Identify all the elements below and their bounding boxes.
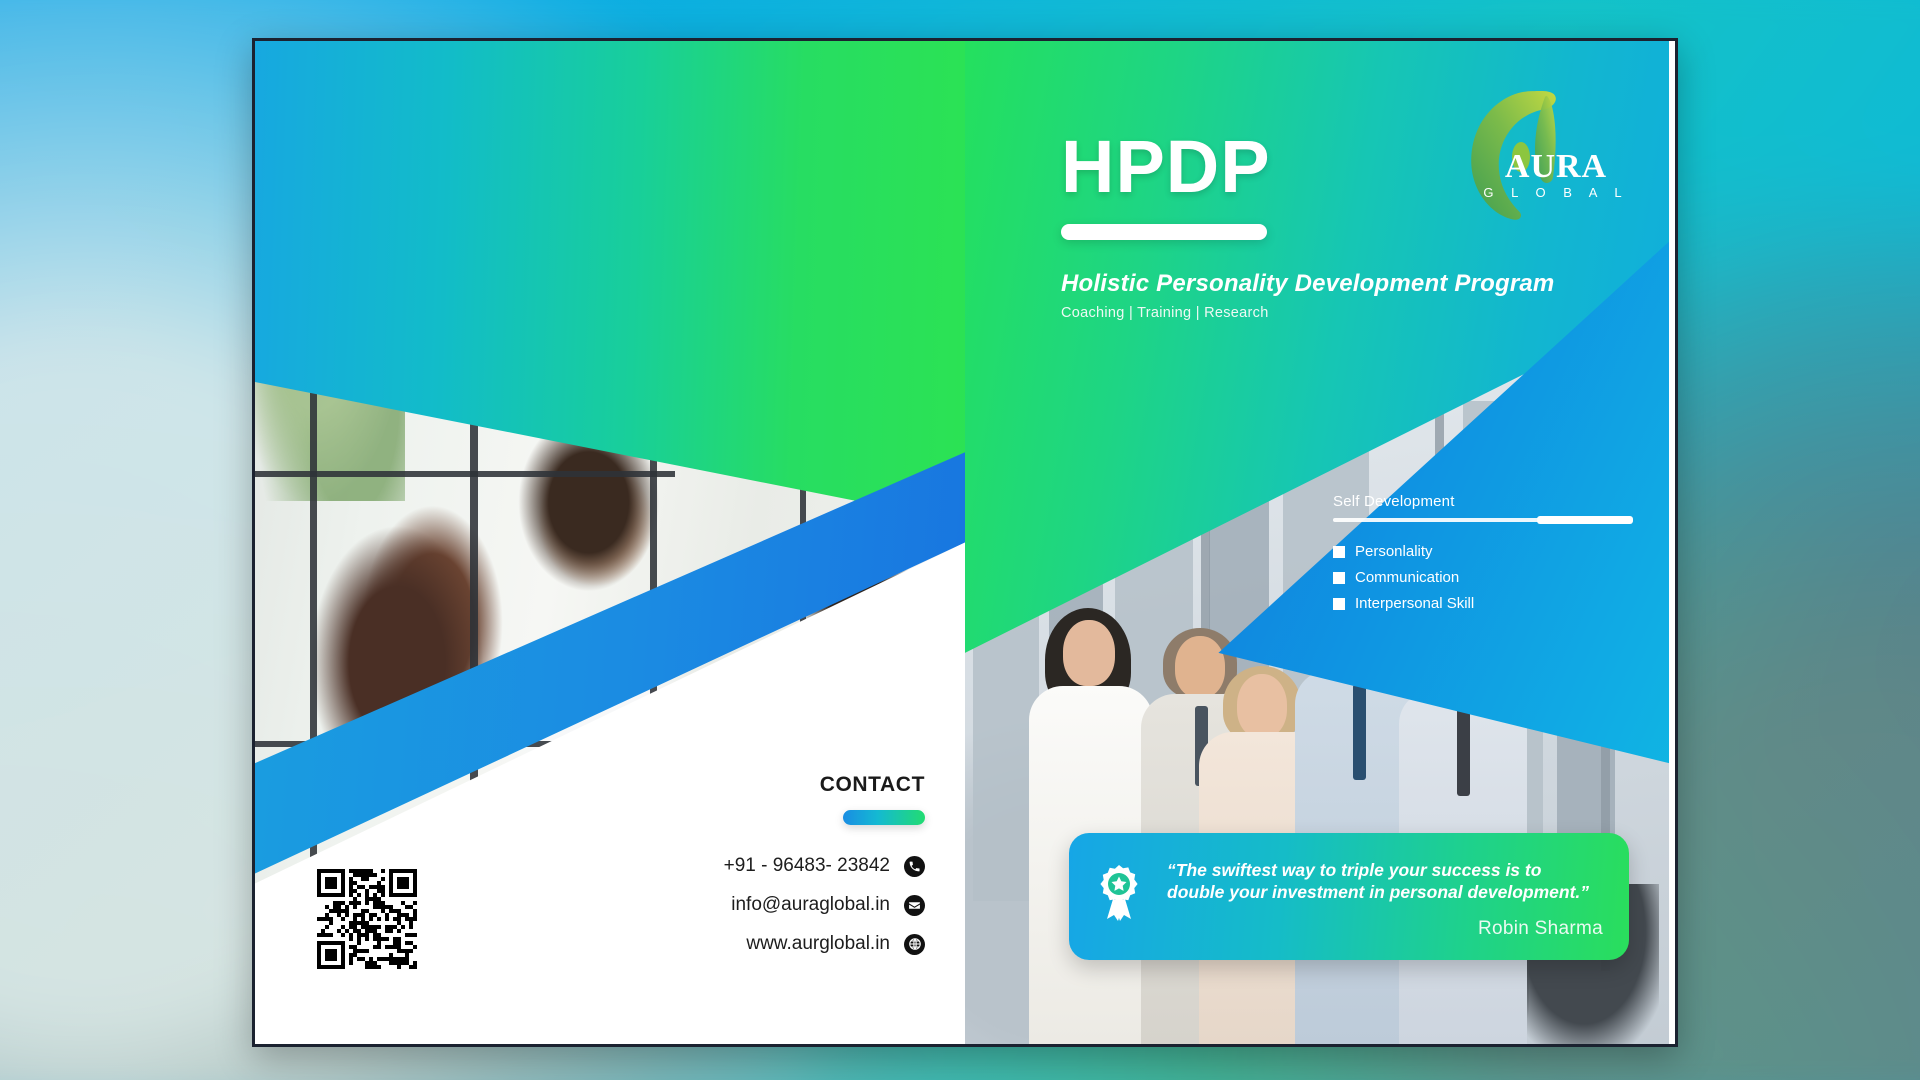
contact-row-email[interactable]: info@auraglobal.in xyxy=(724,894,925,916)
award-rosette-icon xyxy=(1095,859,1147,941)
person-head xyxy=(1175,636,1225,698)
quote-author: Robin Sharma xyxy=(1167,918,1603,940)
globe-icon xyxy=(904,934,925,955)
contact-block: CONTACT +91 - 96483- 23842 info@auraglob… xyxy=(724,773,925,972)
logo-name: AURA xyxy=(1481,150,1631,184)
person-tie xyxy=(1353,684,1366,780)
brochure-sheet: CONTACT +91 - 96483- 23842 info@auraglob… xyxy=(252,38,1678,1047)
contact-email-value: info@auraglobal.in xyxy=(731,894,890,916)
self-development-block: Self Development Personlality Communicat… xyxy=(1333,493,1633,621)
contact-heading: CONTACT xyxy=(724,773,925,797)
checklist-label: Interpersonal Skill xyxy=(1355,595,1474,612)
contact-phone-value: +91 - 96483- 23842 xyxy=(724,855,890,877)
brochure-left-page: CONTACT +91 - 96483- 23842 info@auraglob… xyxy=(255,41,965,1044)
checklist-label: Communication xyxy=(1355,569,1459,586)
brand-logo[interactable]: AURA G L O B A L xyxy=(1457,83,1625,223)
qr-code[interactable] xyxy=(317,869,417,969)
self-development-heading: Self Development xyxy=(1333,493,1633,510)
checklist-item-communication[interactable]: Communication xyxy=(1333,569,1633,586)
checkbox-icon[interactable] xyxy=(1333,598,1345,610)
window-mullion xyxy=(255,471,675,477)
checklist-label: Personlality xyxy=(1355,543,1433,560)
quote-text: “The swiftest way to triple your success… xyxy=(1167,859,1603,905)
logo-subtitle: G L O B A L xyxy=(1481,186,1631,199)
quote-body: “The swiftest way to triple your success… xyxy=(1167,859,1603,941)
screenshot-stage: CONTACT +91 - 96483- 23842 info@auraglob… xyxy=(0,0,1920,1080)
page-subtitle: Holistic Personality Development Program xyxy=(1061,270,1554,298)
contact-accent-bar xyxy=(843,810,925,825)
envelope-icon xyxy=(904,895,925,916)
self-development-rule xyxy=(1333,518,1633,522)
title-underline-bar xyxy=(1061,224,1267,240)
page-tagline: Coaching | Training | Research xyxy=(1061,305,1554,321)
contact-row-phone[interactable]: +91 - 96483- 23842 xyxy=(724,855,925,877)
phone-icon xyxy=(904,856,925,877)
person-head xyxy=(1237,674,1287,738)
checkbox-icon[interactable] xyxy=(1333,546,1345,558)
contact-website-value: www.aurglobal.in xyxy=(746,933,890,955)
quote-card: “The swiftest way to triple your success… xyxy=(1069,833,1629,961)
checkbox-icon[interactable] xyxy=(1333,572,1345,584)
self-development-list: Personlality Communication Interpersonal… xyxy=(1333,543,1633,612)
checklist-item-personality[interactable]: Personlality xyxy=(1333,543,1633,560)
person-tie xyxy=(1457,704,1470,796)
logo-wordmark: AURA G L O B A L xyxy=(1481,150,1631,199)
checklist-item-interpersonal-skill[interactable]: Interpersonal Skill xyxy=(1333,595,1633,612)
brochure-right-page: HPDP Holistic Personality Development Pr… xyxy=(965,41,1669,1044)
contact-row-website[interactable]: www.aurglobal.in xyxy=(724,933,925,955)
person-head xyxy=(1063,620,1115,686)
